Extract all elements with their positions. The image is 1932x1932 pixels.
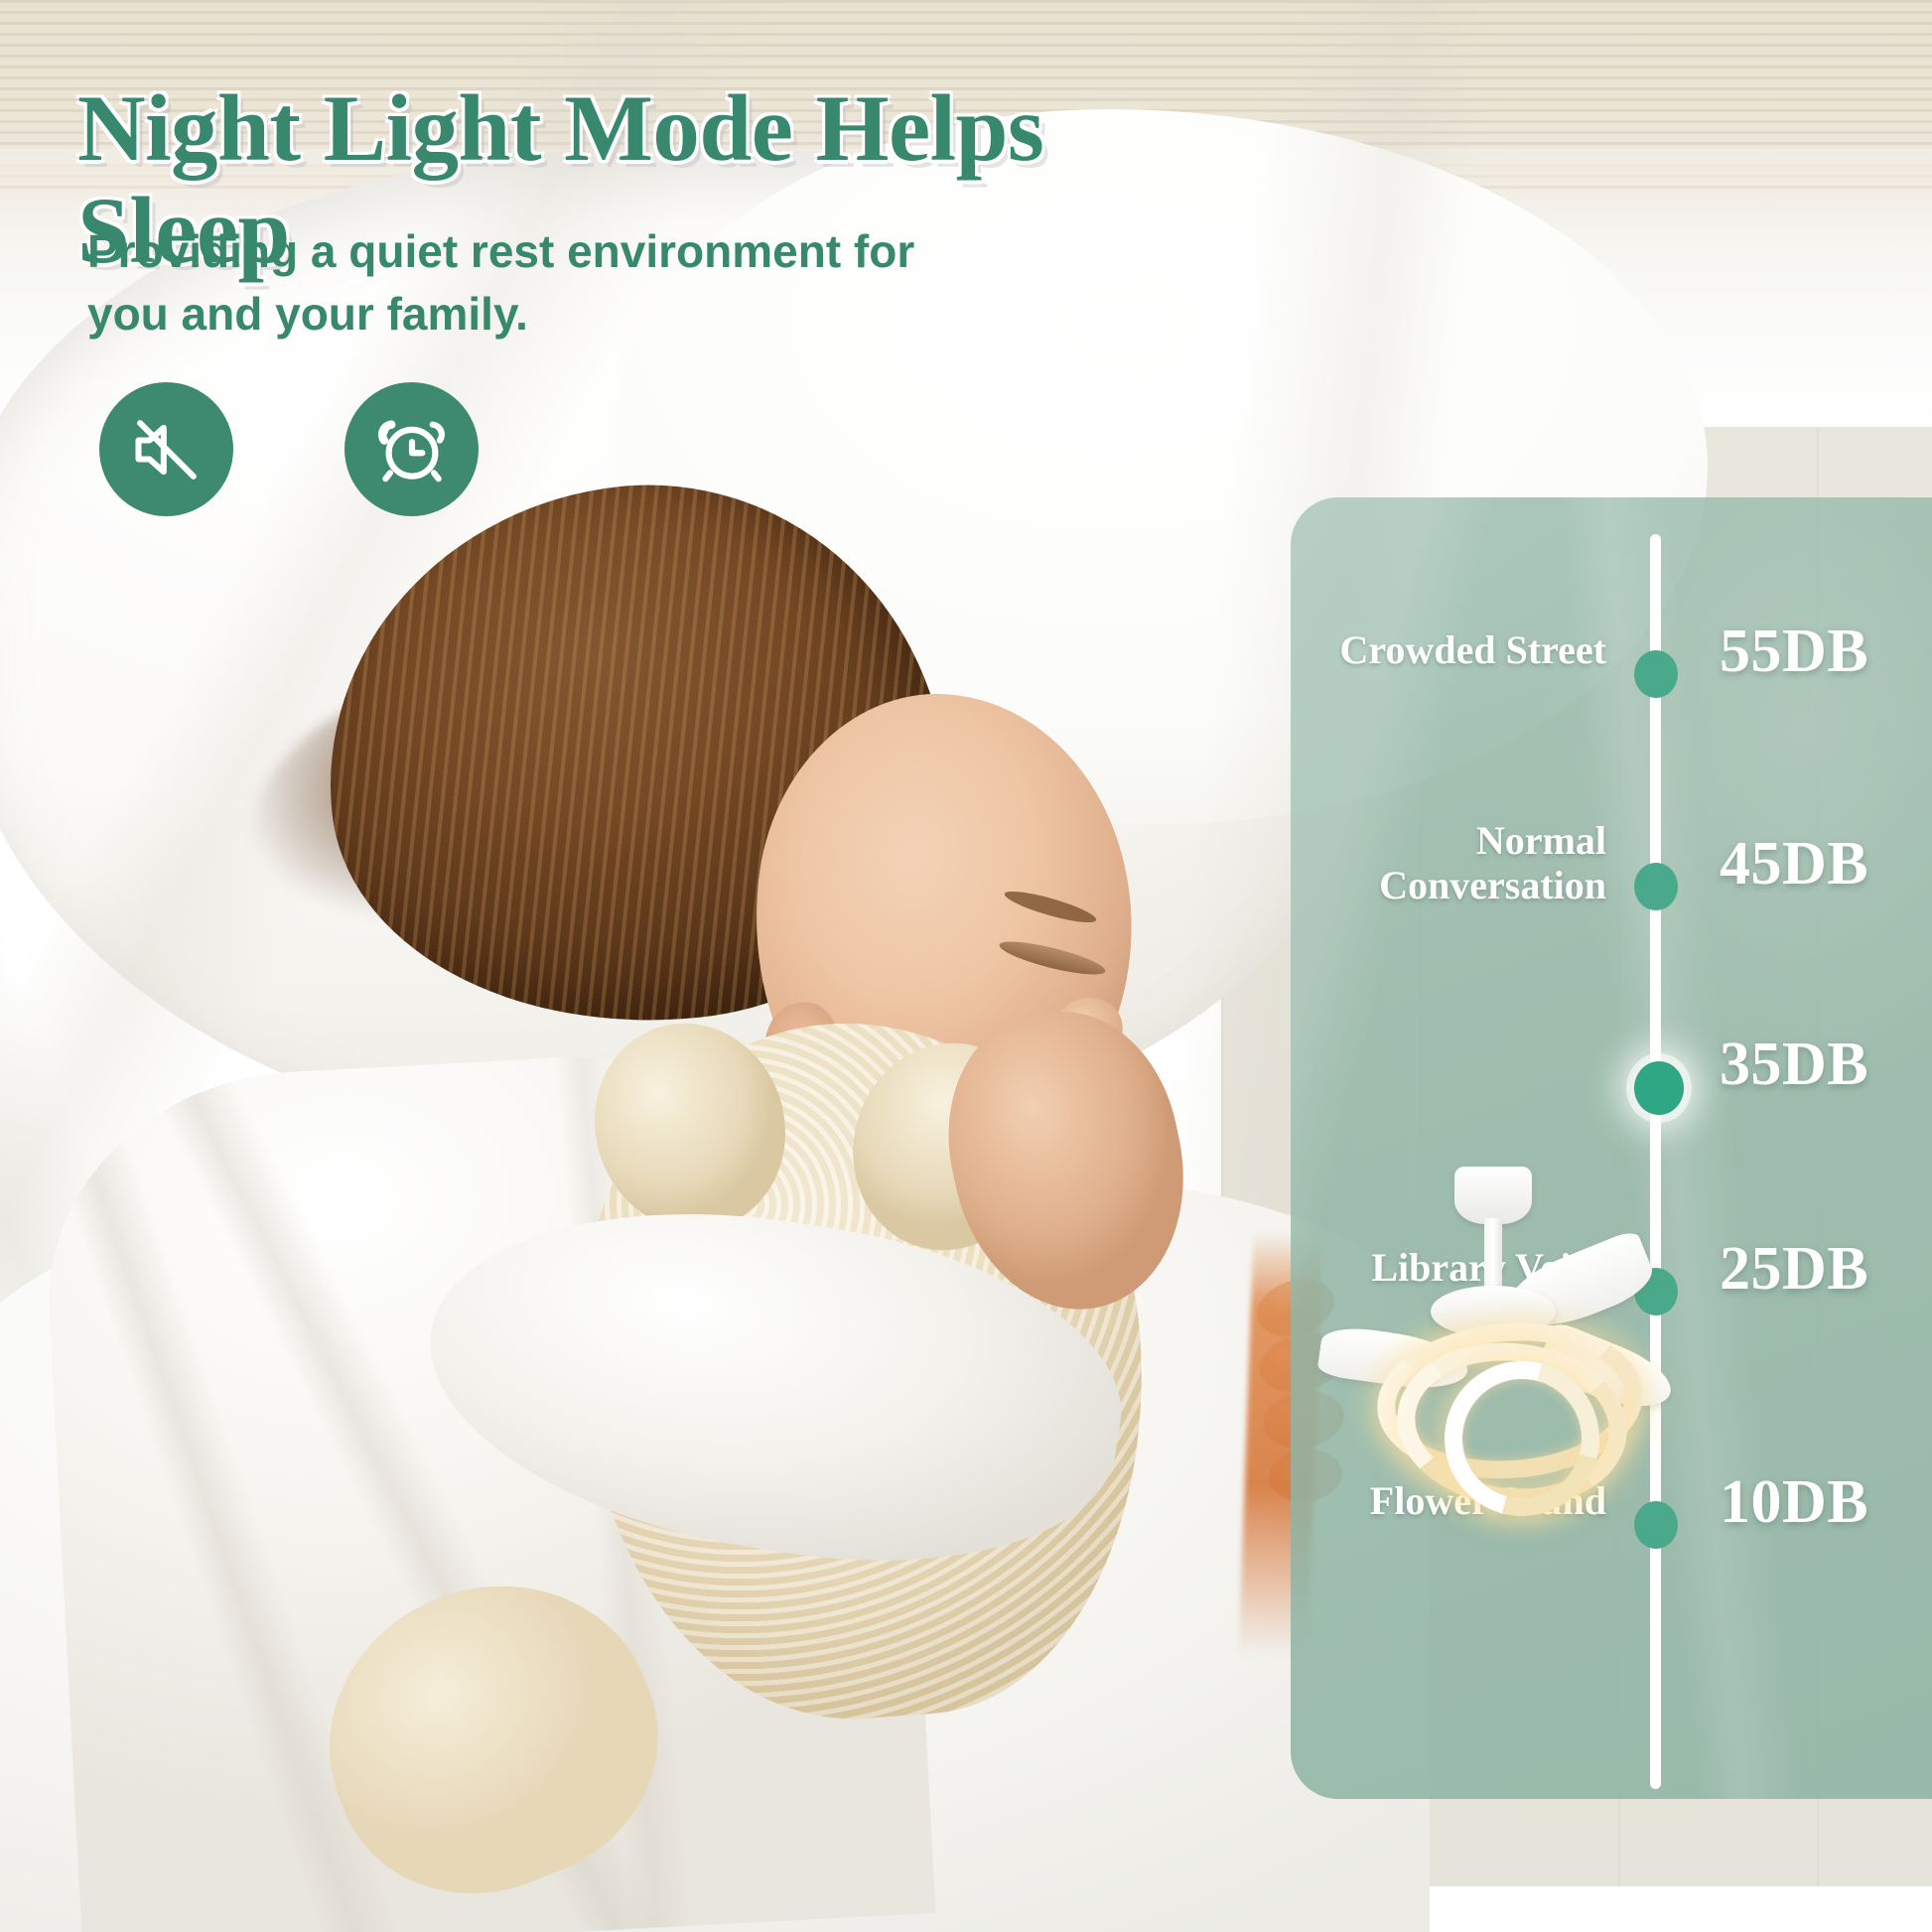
decibel-row-label: Crowded Street [1309, 628, 1606, 673]
decibel-row-dot [1634, 650, 1678, 698]
decibel-row-value: 35DB [1720, 1030, 1868, 1100]
mute-icon [129, 412, 205, 487]
fan-canopy [1454, 1167, 1532, 1224]
feature-icon-row [99, 382, 479, 516]
decibel-row-value: 45DB [1720, 829, 1868, 899]
decibel-comparison-panel: Crowded Street 55DB Normal Conversation … [1291, 497, 1932, 1799]
page-subtitle: Providing a quiet rest environment for y… [87, 220, 961, 345]
ceiling-fan-light-product [1335, 1167, 1663, 1504]
decibel-row-dot-active [1634, 1061, 1684, 1115]
alarm-clock-icon [373, 411, 451, 488]
decibel-axis-line [1650, 534, 1661, 1789]
mute-icon-badge [99, 382, 233, 516]
decibel-row-label: Normal Conversation [1309, 819, 1606, 908]
decibel-row-value: 10DB [1720, 1467, 1868, 1538]
decibel-row-dot [1634, 863, 1678, 910]
alarm-clock-icon-badge [345, 382, 479, 516]
decibel-row-value: 55DB [1720, 617, 1868, 687]
decibel-row-value: 25DB [1720, 1234, 1868, 1305]
infographic-canvas: Night Light Mode Helps Sleep Providing a… [0, 0, 1932, 1932]
decibel-row-dot [1634, 1501, 1678, 1549]
fan-downrod [1484, 1218, 1502, 1296]
